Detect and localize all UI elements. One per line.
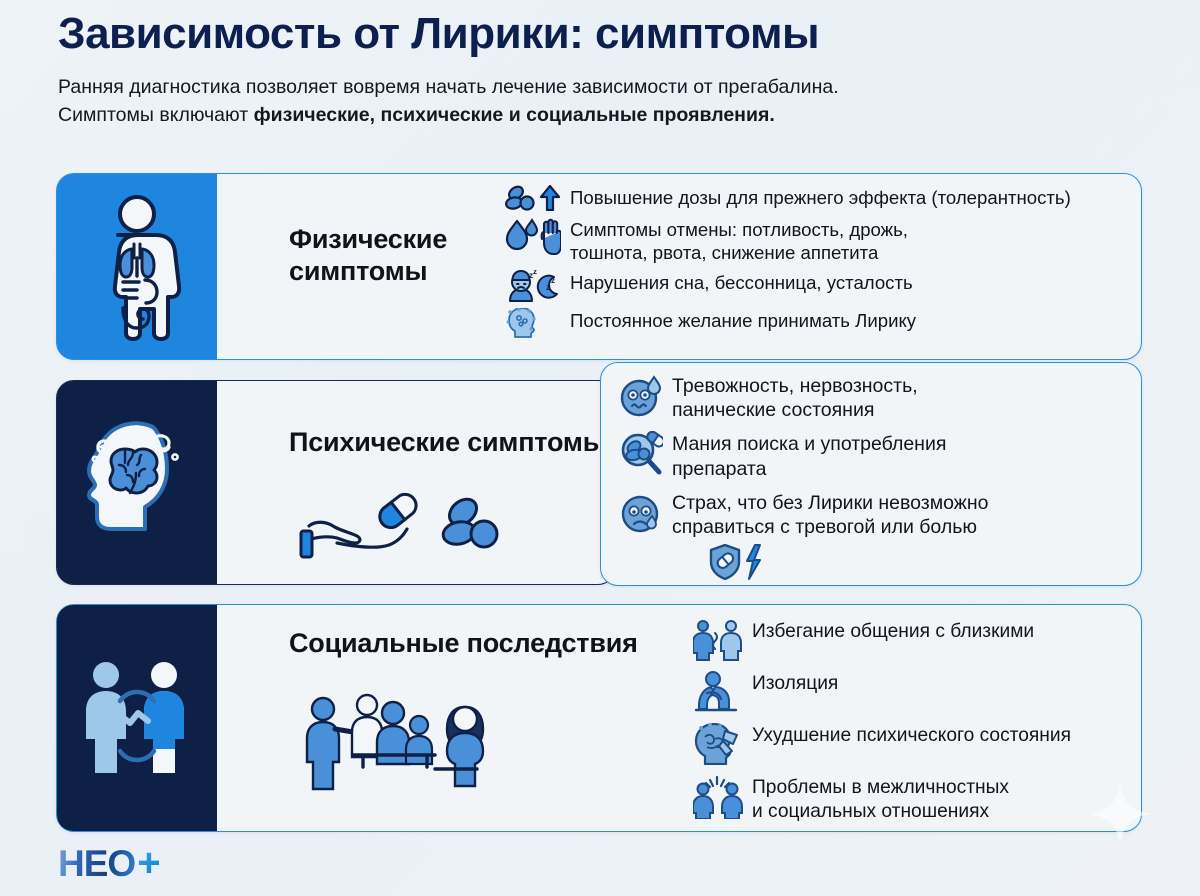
- brand-logo-plus: +: [137, 843, 159, 883]
- svg-text:z: z: [533, 270, 537, 276]
- physical-card-body: Физические симптомы: [217, 174, 1141, 359]
- psych-items-list: Тревожность, нервозность, панические сос…: [619, 373, 1127, 585]
- list-item: Ухудшение психического состояния: [693, 723, 1200, 765]
- social-icon-pane: [57, 605, 217, 831]
- hand-holding-pills-icon: [297, 487, 527, 577]
- list-item: Избегание общения с близкими: [693, 619, 1200, 661]
- list-item-text: Избегание общения с близкими: [752, 619, 1034, 644]
- physical-heading-line-1: Физические: [289, 224, 489, 256]
- list-item-text-line-2: панические состояния: [672, 399, 874, 421]
- head-deteriorating-mind-icon: [693, 723, 743, 765]
- list-item: Тревожность, нервозность, панические сос…: [619, 373, 1127, 422]
- psych-items-card: Тревожность, нервозность, панические сос…: [600, 362, 1142, 586]
- social-card-body: Социальные последствия: [217, 605, 1141, 831]
- physical-card-heading: Физические симптомы: [289, 224, 489, 288]
- list-item-text: Проблемы в межличностных и социальных от…: [752, 775, 1009, 824]
- header: Зависимость от Лирики: симптомы Ранняя д…: [58, 10, 1158, 130]
- list-item-text-line-1: Проблемы в межличностных: [752, 777, 1009, 798]
- list-item-text-line-1: Страх, что без Лирики невозможно: [672, 492, 988, 514]
- psych-icon-pane: [57, 381, 217, 584]
- group-exclusion-icon: [295, 677, 595, 802]
- subtitle-bold: физические, психические и социальные про…: [254, 104, 775, 126]
- list-item-text-line-2: и социальных отношениях: [752, 801, 989, 822]
- list-item-text: Симптомы отмены: потливость, дрожь, тошн…: [570, 217, 908, 264]
- list-item-text-line-1: Тревожность, нервозность,: [672, 375, 918, 397]
- list-item-text: Изоляция: [752, 671, 838, 696]
- list-item: Проблемы в межличностных и социальных от…: [693, 775, 1200, 824]
- sitting-alone-isolation-icon: [693, 671, 743, 713]
- list-item: Повышение дозы для прежнего эффекта (тол…: [505, 185, 1200, 211]
- brand-logo-word: НЕО: [58, 845, 135, 882]
- list-item-text-line-1: Мания поиска и употребления: [672, 433, 946, 455]
- social-card-heading: Социальные последствия: [289, 628, 638, 660]
- list-item-text: Тревожность, нервозность, панические сос…: [672, 373, 918, 422]
- list-item: zz zz Нарушения сна, бессонница, усталос…: [505, 270, 1200, 302]
- two-people-broken-bond-icon: [74, 653, 200, 783]
- list-item-text: Постоянное желание принимать Лирику: [570, 308, 916, 332]
- card-physical-symptoms: Физические симптомы: [56, 173, 1142, 360]
- card-psychological-symptoms: Психические симптомы: [56, 380, 616, 585]
- list-item-text: Ухудшение психического состояния: [752, 723, 1071, 748]
- svg-text:z: z: [551, 276, 555, 285]
- sweat-drops-trembling-hand-icon: [505, 217, 561, 257]
- psych-card-heading: Психические симптомы: [289, 427, 606, 459]
- conflict-people-icon: [693, 775, 743, 819]
- worried-crying-face-icon: [619, 490, 663, 536]
- list-item: Постоянное желание принимать Лирику: [505, 308, 1200, 338]
- physical-icon-pane: [57, 174, 217, 359]
- list-item: Изоляция: [693, 671, 1200, 713]
- list-item-text-line-2: препарата: [672, 458, 766, 480]
- head-craving-icon: [505, 308, 561, 338]
- head-brain-icon: [81, 413, 193, 553]
- page-title: Зависимость от Лирики: симптомы: [58, 10, 1158, 58]
- pills-up-arrow-icon: [505, 185, 561, 211]
- physical-items-list: Повышение дозы для прежнего эффекта (тол…: [505, 185, 1200, 344]
- psych-card-body: Психические симптомы: [217, 381, 615, 584]
- subtitle-normal: Симптомы включают: [58, 104, 254, 126]
- card-social-consequences: Социальные последствия: [56, 604, 1142, 832]
- list-item: Мания поиска и употребления препарата: [619, 431, 1127, 480]
- anxious-sweating-face-icon: [619, 373, 663, 419]
- list-item-text: Мания поиска и употребления препарата: [672, 431, 946, 480]
- list-item-text: Страх, что без Лирики невозможно справит…: [672, 490, 988, 539]
- list-item-text-line-2: тошнота, рвота, снижение аппетита: [570, 242, 878, 263]
- physical-heading-line-2: симптомы: [289, 256, 489, 288]
- page-subtitle: Ранняя диагностика позволяет вовремя нач…: [58, 74, 1148, 129]
- sleeping-face-moon-icon: zz zz: [505, 270, 561, 302]
- list-item-text: Нарушения сна, бессонница, усталость: [570, 270, 913, 294]
- shield-pill-lightning-icon: [709, 544, 1127, 585]
- infographic-page: Зависимость от Лирики: симптомы Ранняя д…: [0, 0, 1200, 896]
- svg-text:z: z: [546, 283, 550, 292]
- magnifier-pills-search-icon: [619, 431, 663, 477]
- list-item: Страх, что без Лирики невозможно справит…: [619, 490, 1127, 539]
- subtitle-line-1: Ранняя диагностика позволяет вовремя нач…: [58, 74, 1148, 102]
- brand-logo: НЕО +: [58, 843, 160, 883]
- social-items-list: Избегание общения с близкими Изоляция: [693, 619, 1200, 834]
- human-body-organs-icon: [85, 192, 189, 342]
- list-item-text-line-2: справиться с тревогой или болью: [672, 516, 977, 538]
- list-item: Симптомы отмены: потливость, дрожь, тошн…: [505, 217, 1200, 264]
- list-item-text: Повышение дозы для прежнего эффекта (тол…: [570, 185, 1071, 209]
- list-item-text-line-1: Симптомы отмены: потливость, дрожь,: [570, 219, 908, 240]
- avoiding-people-icon: [693, 619, 743, 661]
- subtitle-line-2: Симптомы включают физические, психически…: [58, 102, 1148, 130]
